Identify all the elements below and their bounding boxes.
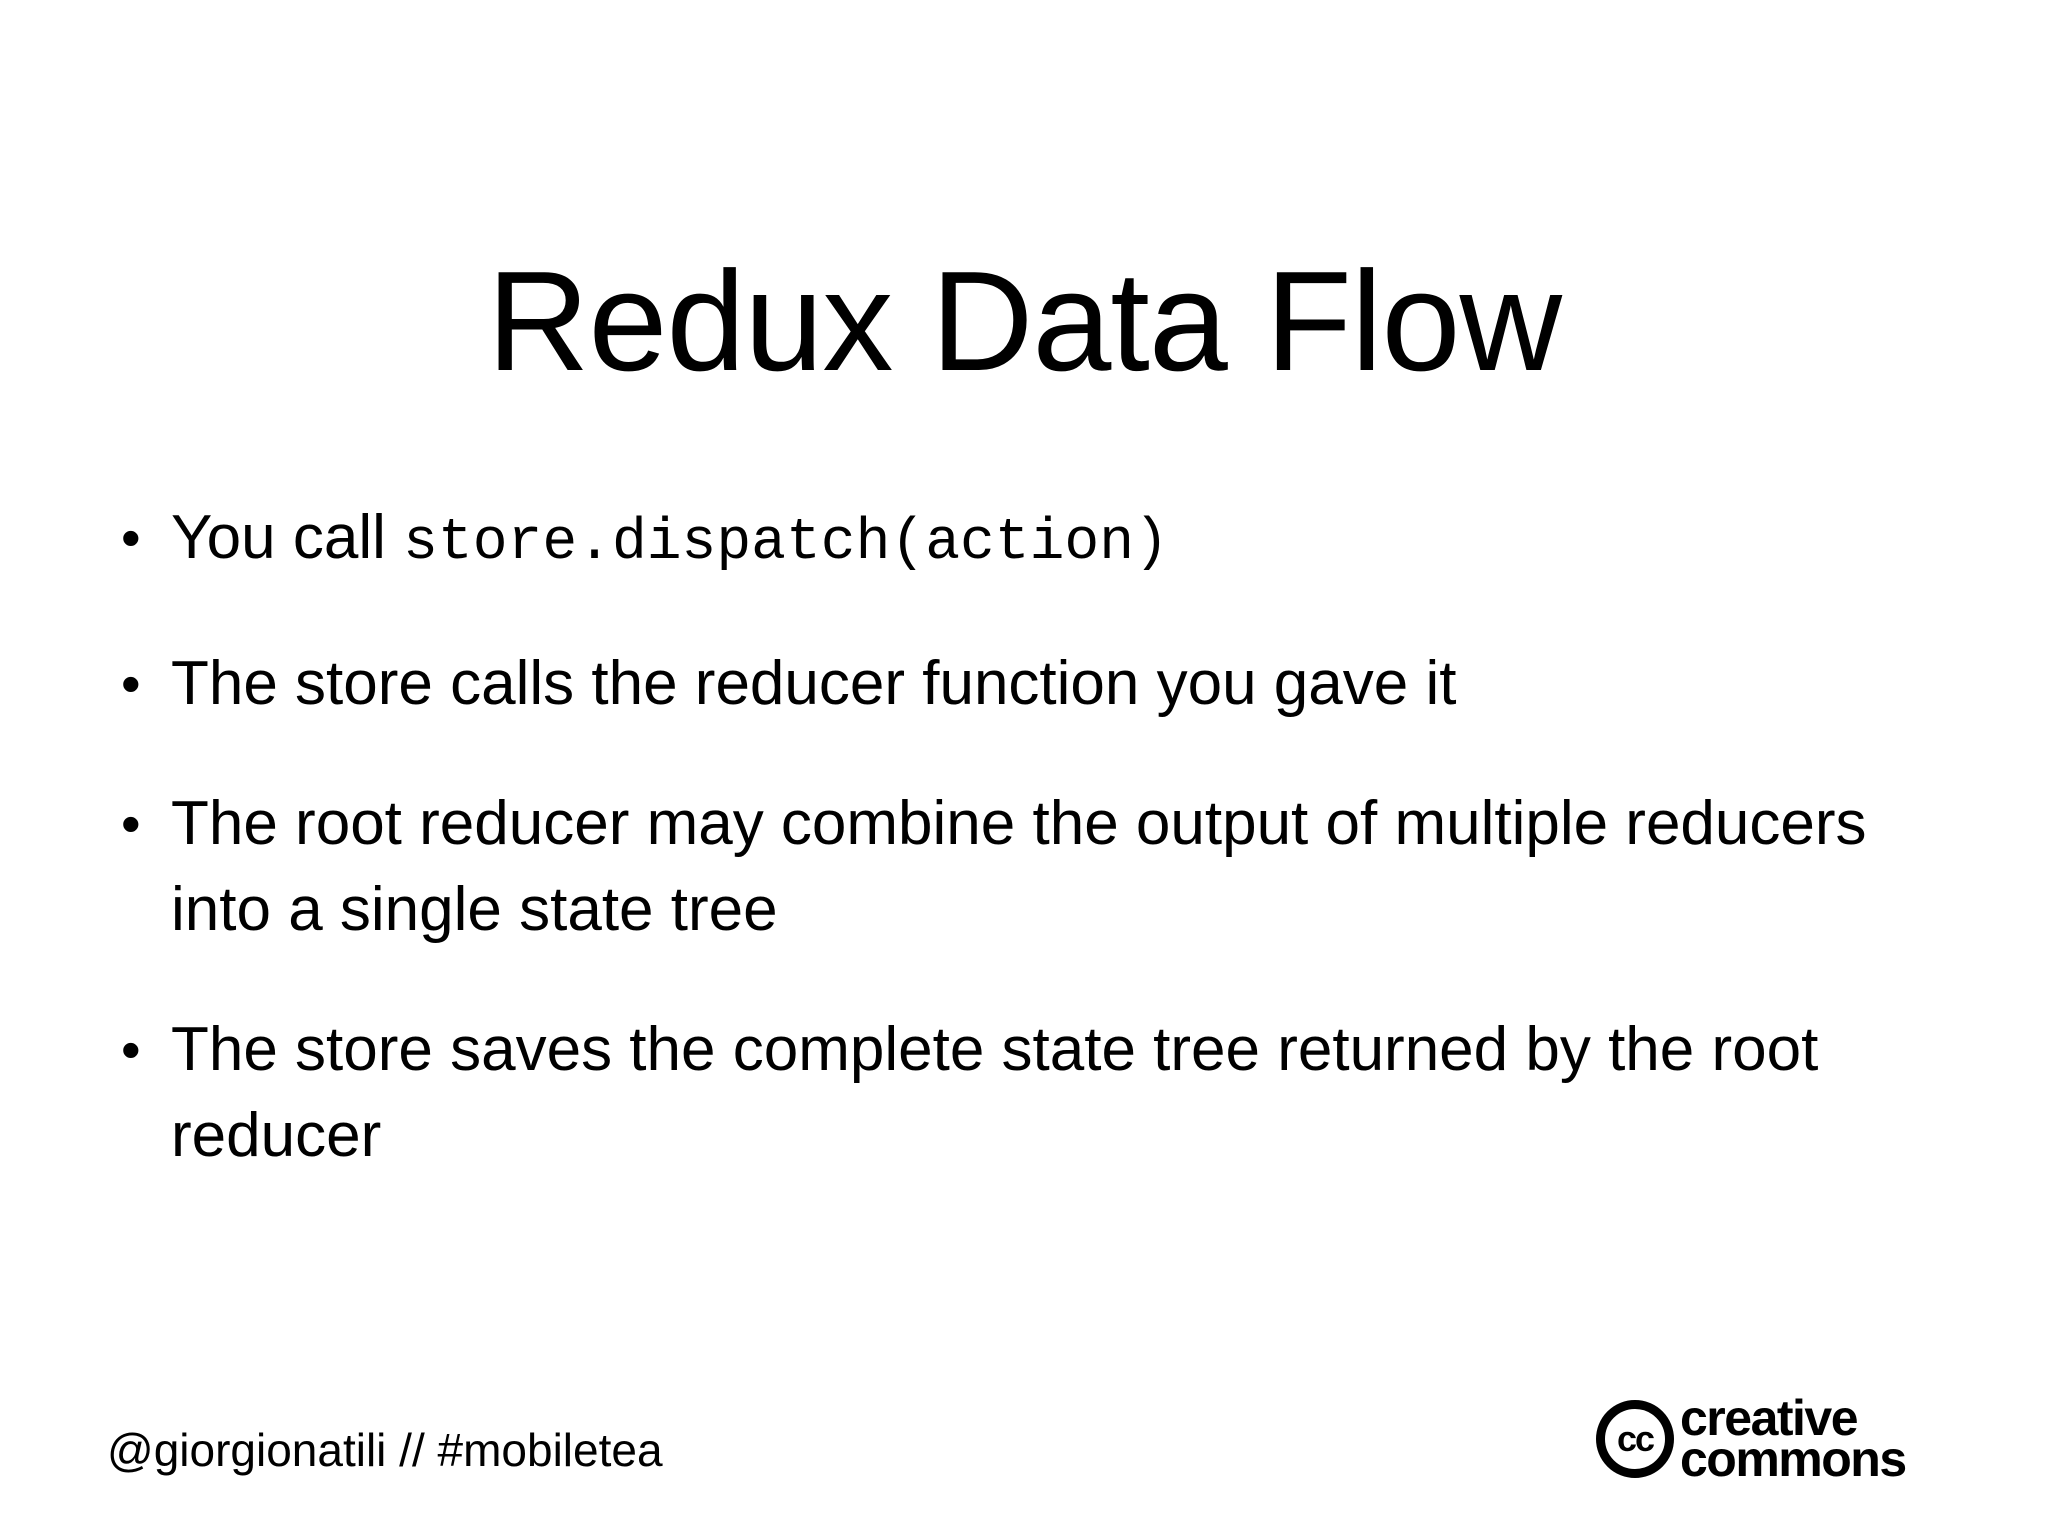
stripe-lower (0, 0, 230, 85)
bullet-marker-icon: • (105, 1007, 171, 1093)
list-item: • You call store.dispatch(action) (105, 495, 1935, 587)
footer-handle: @giorgionatili // #mobiletea (107, 1422, 663, 1478)
bullet-code-segment: store.dispatch(action) (403, 511, 1169, 576)
slide-canvas: Redux Data Flow • You call store.dispatc… (0, 0, 2048, 1536)
bullet-marker-icon: • (105, 641, 171, 727)
cc-circle-icon: cc (1596, 1400, 1674, 1478)
bullet-marker-icon: • (105, 495, 171, 581)
list-item: • The store calls the reducer function y… (105, 641, 1935, 727)
list-item: • The root reducer may combine the outpu… (105, 781, 1935, 953)
list-item-text: You call store.dispatch(action) (171, 495, 1935, 587)
bullet-marker-icon: • (105, 781, 171, 867)
list-item: • The store saves the complete state tre… (105, 1007, 1935, 1179)
bullet-text-segment: You call (171, 503, 403, 572)
bullet-list: • You call store.dispatch(action) • The … (105, 495, 1935, 1233)
page-title: Redux Data Flow (0, 247, 2048, 396)
list-item-text: The store calls the reducer function you… (171, 641, 1935, 727)
cc-wordmark: creative commons (1680, 1398, 1906, 1480)
cc-wordmark-line2: commons (1680, 1439, 1906, 1480)
list-item-text: The store saves the complete state tree … (171, 1007, 1935, 1179)
creative-commons-logo: cc creative commons (1596, 1398, 1906, 1480)
list-item-text: The root reducer may combine the output … (171, 781, 1935, 953)
